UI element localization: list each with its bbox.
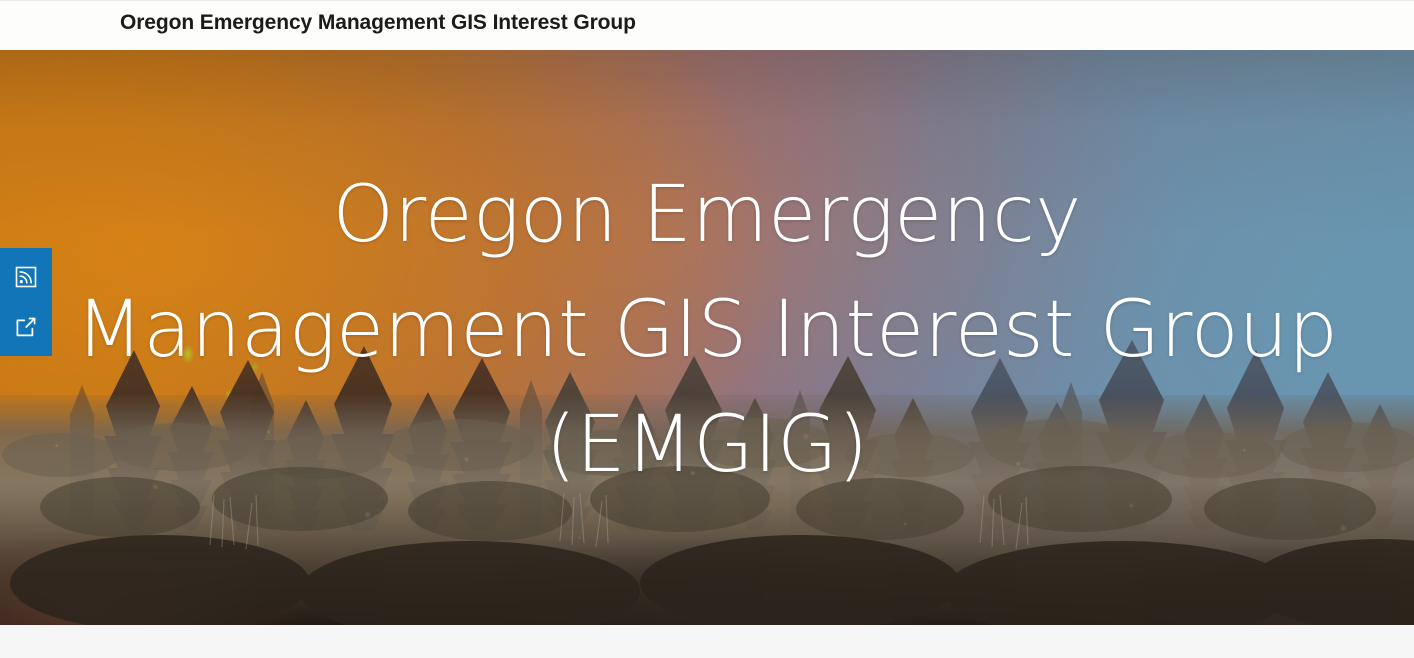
share-button[interactable] [10, 311, 42, 343]
rss-feed-button[interactable] [10, 261, 42, 293]
page-title: Oregon Emergency Management GIS Interest… [120, 11, 636, 35]
social-action-rail [0, 248, 52, 356]
hero-foreground-brush-field [0, 395, 1414, 625]
page-root: Oregon Emergency Management GIS Interest… [0, 0, 1414, 658]
page-content-area [0, 625, 1414, 658]
hero-shrub-silhouettes [0, 395, 1414, 625]
rss-feed-icon [14, 265, 38, 289]
site-header: Oregon Emergency Management GIS Interest… [0, 0, 1414, 50]
hero-banner: Oregon Emergency Management GIS Interest… [0, 50, 1414, 625]
share-icon [14, 315, 38, 339]
